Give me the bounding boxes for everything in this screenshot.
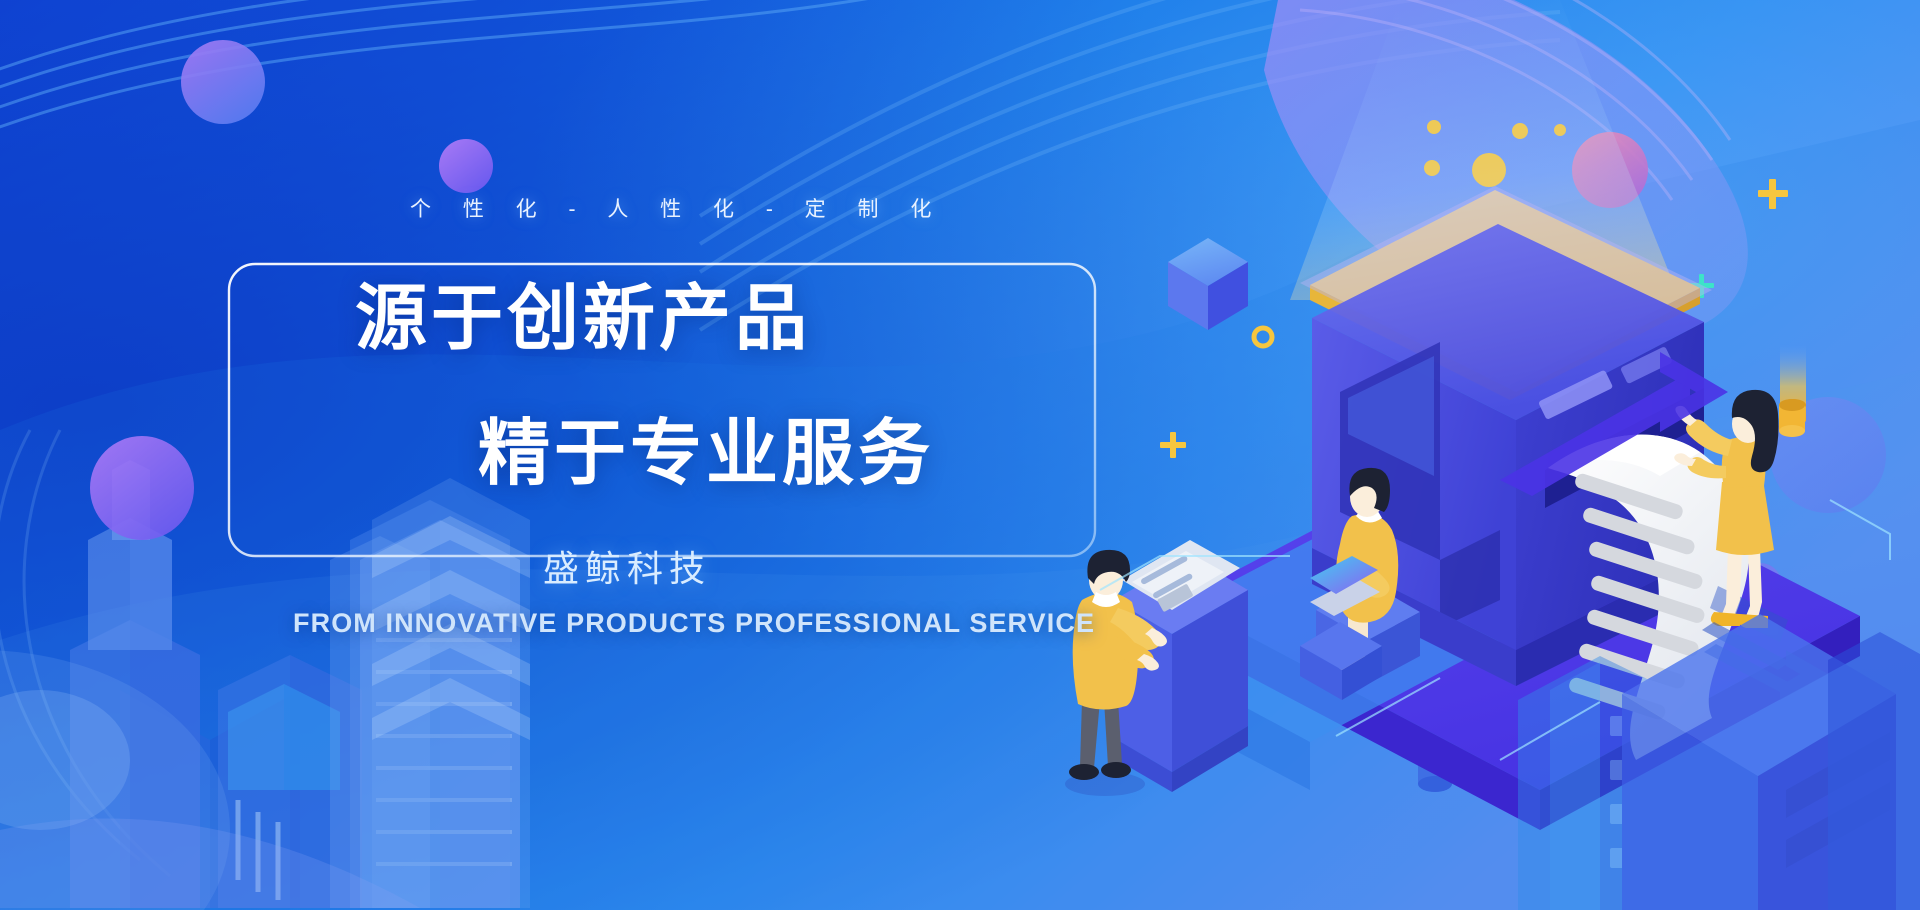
company-name: 盛鲸科技 [543, 540, 711, 592]
headline-line-1: 源于创新产品 [355, 283, 811, 355]
headline-line-2: 精于专业服务 [478, 418, 934, 490]
banner-subtitle: FROM INNOVATIVE PRODUCTS PROFESSIONAL SE… [293, 608, 1095, 639]
hero-banner: 个 性 化 - 人 性 化 - 定 制 化 源于创新产品 精于专业服务 盛鲸科技… [0, 0, 1920, 910]
banner-tagline: 个 性 化 - 人 性 化 - 定 制 化 [410, 193, 944, 223]
floating-cube [1168, 238, 1248, 330]
banner-text-block: 个 性 化 - 人 性 化 - 定 制 化 源于创新产品 精于专业服务 盛鲸科技… [0, 0, 1180, 910]
